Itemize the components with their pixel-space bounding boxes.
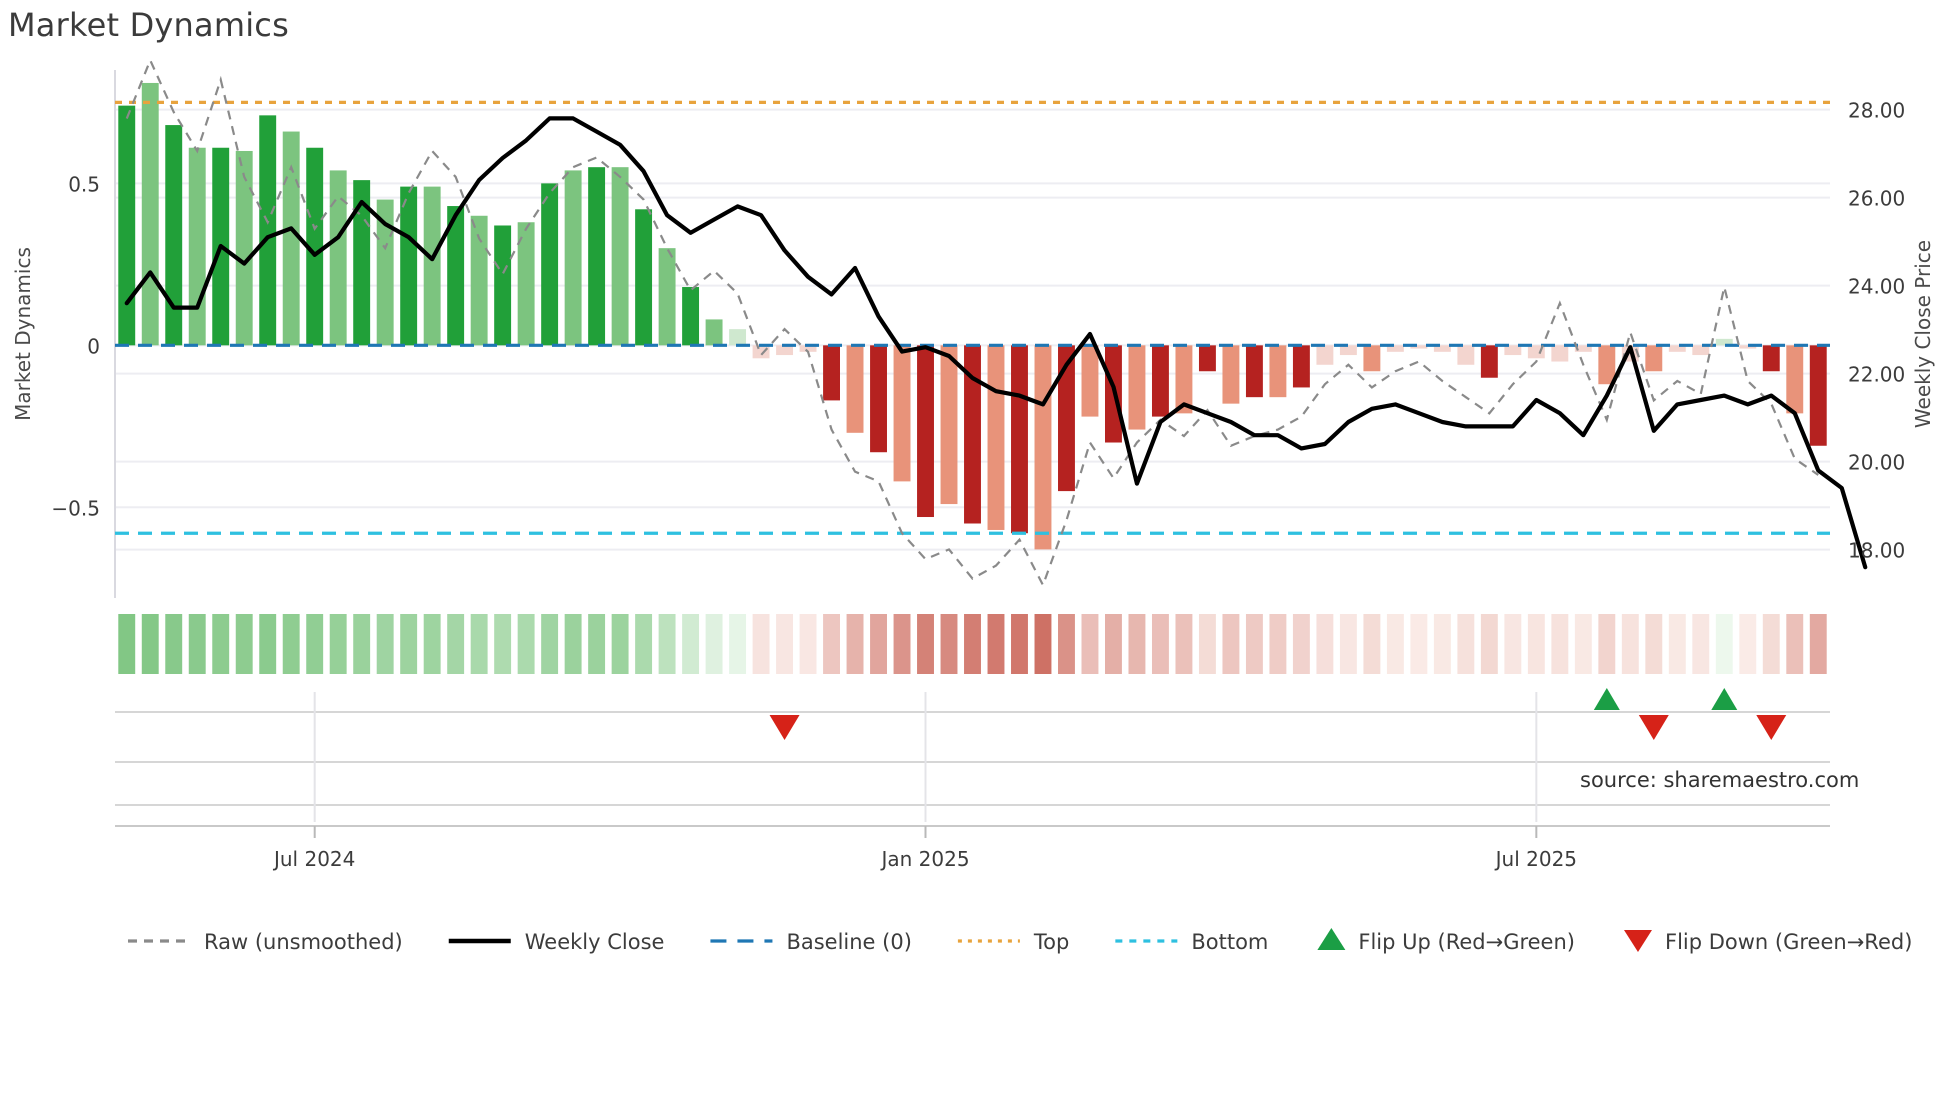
heat-cell (1669, 614, 1686, 674)
bar (612, 167, 629, 345)
axis-tick-label: 18.00 (1848, 539, 1905, 563)
heat-cell (823, 614, 840, 674)
axis-tick-label: 28.00 (1848, 99, 1905, 123)
bar (1598, 345, 1615, 384)
heat-cell (612, 614, 629, 674)
heat-cell (894, 614, 911, 674)
legend-label: Flip Up (Red→Green) (1358, 930, 1575, 954)
bar (941, 345, 958, 504)
heat-cell (1152, 614, 1169, 674)
heat-cell (189, 614, 206, 674)
heat-cell (353, 614, 370, 674)
bar (1152, 345, 1169, 416)
bar (988, 345, 1005, 530)
bar (330, 170, 347, 345)
heat-cell (1363, 614, 1380, 674)
bar (659, 248, 676, 345)
heat-cell (870, 614, 887, 674)
left-axis-label: Market Dynamics (11, 247, 35, 421)
source-attribution: source: sharemaestro.com (1580, 768, 1859, 792)
bar (706, 319, 723, 345)
axis-tick-label: 22.00 (1848, 363, 1905, 387)
heat-cell (306, 614, 323, 674)
heat-cell (1058, 614, 1075, 674)
heat-cell (1293, 614, 1310, 674)
heat-cell (682, 614, 699, 674)
bar (165, 125, 182, 345)
bar (259, 115, 276, 345)
heat-cell (283, 614, 300, 674)
axis-tick-label: 24.00 (1848, 275, 1905, 299)
bar (753, 345, 770, 358)
bar (1128, 345, 1145, 429)
market-dynamics-chart: 0.50−0.528.0026.0024.0022.0020.0018.00Ju… (0, 0, 1960, 1102)
bar (894, 345, 911, 481)
heat-cell (964, 614, 981, 674)
heat-cell (494, 614, 511, 674)
bar (870, 345, 887, 452)
heat-cell (776, 614, 793, 674)
bar (682, 287, 699, 345)
bar (1763, 345, 1780, 371)
heat-cell (1175, 614, 1192, 674)
heat-cell (518, 614, 535, 674)
heat-cell (541, 614, 558, 674)
heat-cell (729, 614, 746, 674)
heat-cell (1786, 614, 1803, 674)
bar (565, 170, 582, 345)
heat-cell (917, 614, 934, 674)
legend-up-triangle-icon (1317, 928, 1345, 950)
bar (1363, 345, 1380, 371)
heat-cell (1387, 614, 1404, 674)
heat-cell (424, 614, 441, 674)
legend-label: Bottom (1191, 930, 1268, 954)
bar (917, 345, 934, 517)
heat-cell (1716, 614, 1733, 674)
heat-cell (988, 614, 1005, 674)
bar (1269, 345, 1286, 397)
axis-tick-label: Jul 2024 (272, 847, 355, 871)
heat-cell (1105, 614, 1122, 674)
axis-tick-label: −0.5 (51, 496, 100, 520)
heat-cell (1551, 614, 1568, 674)
legend-item: Raw (unsmoothed) (128, 930, 403, 954)
bar (424, 187, 441, 346)
axis-tick-label: Jan 2025 (879, 847, 969, 871)
right-axis-label: Weekly Close Price (1911, 240, 1935, 428)
heat-cell (1457, 614, 1474, 674)
legend-item: Flip Down (Green→Red) (1624, 930, 1912, 954)
heat-cell (447, 614, 464, 674)
heat-cell (142, 614, 159, 674)
bar (1457, 345, 1474, 364)
heat-cell (847, 614, 864, 674)
heat-cell (1481, 614, 1498, 674)
legend-item: Flip Up (Red→Green) (1317, 928, 1575, 954)
heat-cell (236, 614, 253, 674)
heat-cell (1645, 614, 1662, 674)
bar (236, 151, 253, 345)
chart-legend: Raw (unsmoothed)Weekly CloseBaseline (0)… (128, 928, 1912, 954)
heat-cell (1504, 614, 1521, 674)
bar (283, 132, 300, 346)
legend-item: Bottom (1115, 930, 1268, 954)
heat-cell (1269, 614, 1286, 674)
flip-down-marker (1756, 715, 1786, 740)
bar (1810, 345, 1827, 445)
chart-page: Market Dynamics 0.50−0.528.0026.0024.002… (0, 0, 1960, 1102)
bar (1082, 345, 1099, 416)
bar (400, 187, 417, 346)
legend-label: Weekly Close (525, 930, 665, 954)
heat-cell (1011, 614, 1028, 674)
bar (1222, 345, 1239, 403)
heat-cell (400, 614, 417, 674)
legend-item: Weekly Close (449, 930, 665, 954)
legend-label: Raw (unsmoothed) (204, 930, 403, 954)
legend-item: Baseline (0) (710, 930, 911, 954)
bar (729, 329, 746, 345)
axis-tick-label: Jul 2025 (1494, 847, 1577, 871)
heat-cell (1340, 614, 1357, 674)
heat-cell (118, 614, 135, 674)
heat-cell (635, 614, 652, 674)
heat-cell (1128, 614, 1145, 674)
legend-label: Flip Down (Green→Red) (1665, 930, 1912, 954)
legend-label: Baseline (0) (786, 930, 911, 954)
heat-cell (1082, 614, 1099, 674)
bar (847, 345, 864, 432)
bar (1316, 345, 1333, 364)
heat-cell (1810, 614, 1827, 674)
bar-series (118, 83, 1826, 549)
axis-tick-label: 0.5 (68, 172, 100, 196)
regime-heat-strip (118, 614, 1826, 674)
bar (118, 106, 135, 346)
heat-cell (1528, 614, 1545, 674)
heat-cell (1739, 614, 1756, 674)
axis-tick-label: 0 (87, 334, 100, 358)
bar (1246, 345, 1263, 397)
flip-markers (115, 688, 1830, 826)
heat-cell (659, 614, 676, 674)
bar (142, 83, 159, 345)
heat-cell (212, 614, 229, 674)
bar (189, 148, 206, 346)
bar (588, 167, 605, 345)
flip-up-marker (1594, 688, 1620, 710)
legend-label: Top (1033, 930, 1069, 954)
heat-cell (1434, 614, 1451, 674)
bar (1481, 345, 1498, 377)
heat-cell (1035, 614, 1052, 674)
heat-cell (800, 614, 817, 674)
heat-cell (471, 614, 488, 674)
bar (471, 216, 488, 346)
axis-tick-label: 26.00 (1848, 187, 1905, 211)
bar (1199, 345, 1216, 371)
heat-cell (1692, 614, 1709, 674)
bar (1035, 345, 1052, 549)
bar (1645, 345, 1662, 371)
heat-cell (1410, 614, 1427, 674)
flip-up-marker (1711, 688, 1737, 710)
heat-cell (165, 614, 182, 674)
bar (1293, 345, 1310, 387)
legend-item: Top (958, 930, 1069, 954)
heat-cell (1316, 614, 1333, 674)
heat-cell (1575, 614, 1592, 674)
legend-down-triangle-icon (1624, 930, 1652, 952)
bar (1011, 345, 1028, 533)
heat-cell (1763, 614, 1780, 674)
heat-cell (377, 614, 394, 674)
heat-cell (1622, 614, 1639, 674)
bar (635, 209, 652, 345)
heat-cell (706, 614, 723, 674)
flip-down-marker (1639, 715, 1669, 740)
axis-tick-label: 20.00 (1848, 451, 1905, 475)
heat-cell (1598, 614, 1615, 674)
heat-cell (1199, 614, 1216, 674)
bar (823, 345, 840, 400)
bar (494, 225, 511, 345)
heat-cell (565, 614, 582, 674)
heat-cell (259, 614, 276, 674)
heat-cell (1222, 614, 1239, 674)
heat-cell (330, 614, 347, 674)
flip-down-marker (770, 715, 800, 740)
bar (1786, 345, 1803, 413)
bar (541, 183, 558, 345)
bar (1551, 345, 1568, 361)
heat-cell (1246, 614, 1263, 674)
heat-cell (753, 614, 770, 674)
heat-cell (941, 614, 958, 674)
heat-cell (588, 614, 605, 674)
